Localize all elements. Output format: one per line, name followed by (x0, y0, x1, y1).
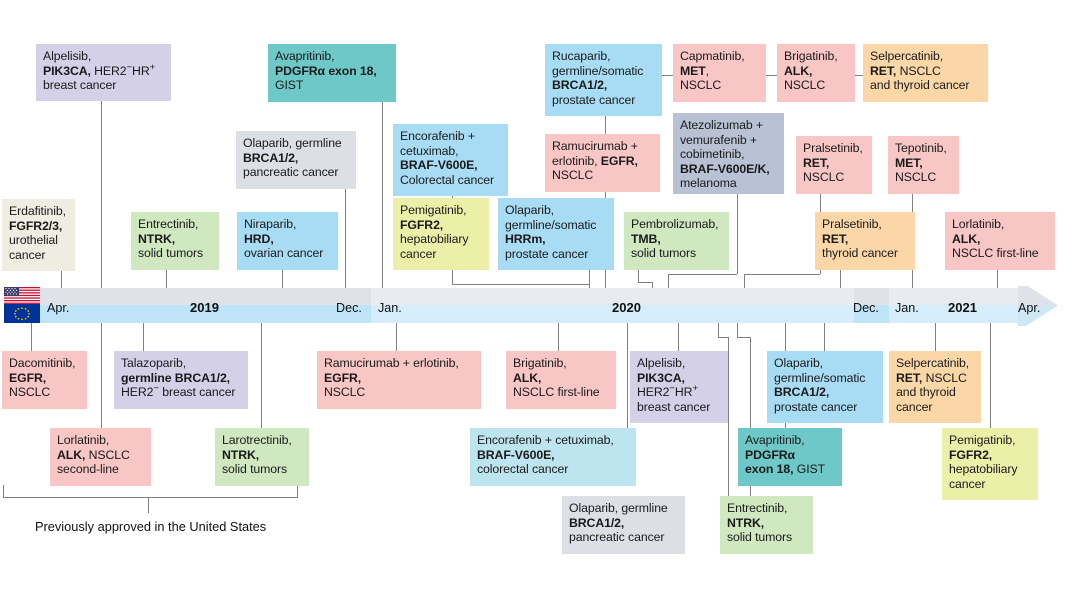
approval-box-line: Lorlatinib, (57, 433, 144, 448)
approval-box-line: HRRm, (505, 232, 607, 247)
approval-box-line: and thyroid cancer (870, 78, 981, 93)
legend-bracket-stem (148, 497, 149, 513)
approval-box-line: ovarian cancer (244, 246, 331, 261)
approval-box-line: MET, (680, 64, 759, 79)
approval-box-line: NSCLC first-line (952, 246, 1048, 261)
approval-box-line: germline BRCA1/2, (121, 371, 241, 386)
connector-encorafenib-bottom (627, 322, 628, 428)
connector-dacomitinib-bottom (31, 322, 32, 351)
approval-box-line: Pembrolizumab, (631, 217, 722, 232)
axis-tick-2019: 2019 (190, 302, 219, 315)
timeline-figure: Apr. 2019 Dec. Jan. 2020 Dec. Jan. 2021 … (0, 0, 1066, 600)
approval-box-line: hepatobiliary (400, 232, 482, 247)
approval-box-line: breast cancer (43, 78, 164, 93)
approval-box-line: pancreatic cancer (569, 530, 678, 545)
approval-box-larotrectinib-bottom: Larotrectinib,NTRK,solid tumors (215, 428, 309, 486)
connector-alpelisib-2019 (101, 101, 102, 288)
connector-pralsetinib-nsclc-elbow (744, 274, 820, 275)
approval-box-line: BRCA1/2, (774, 385, 876, 400)
approval-box-ramucirumab-bottom: Ramucirumab + erlotinib,EGFR,NSCLC (317, 351, 481, 409)
approval-box-line: PIK3CA, HER2−HR+ (43, 64, 164, 79)
approval-box-line: thyroid cancer (822, 246, 908, 261)
connector-pemigatinib-bottom (990, 322, 991, 428)
legend-label: Previously approved in the United States (35, 519, 266, 534)
connector-brigatinib-bottom (558, 322, 559, 351)
approval-box-lorlatinib-second-line-bottom: Lorlatinib,ALK, NSCLCsecond-line (50, 428, 151, 486)
approval-box-encorafenib-bottom: Encorafenib + cetuximab,BRAF-V600E,color… (470, 428, 636, 486)
legend-bracket-top (3, 497, 298, 498)
approval-box-line: Pemigatinib, (400, 203, 482, 218)
approval-box-line: Alpelisib, (637, 356, 721, 371)
approval-box-line: Avapritinib, (745, 433, 835, 448)
approval-box-brigatinib-bottom: Brigatinib,ALK,NSCLC first-line (506, 351, 616, 409)
approval-box-encorafenib-top: Encorafenib +cetuximab,BRAF-V600E,Colore… (393, 124, 508, 196)
approval-box-line: RET, NSCLC (870, 64, 981, 79)
approval-box-line: HER2− breast cancer (121, 385, 241, 400)
axis-tick-dec-2020: Dec. (853, 302, 879, 315)
approval-box-avapritinib-top: Avapritinib,PDGFRα exon 18,GIST (268, 44, 396, 102)
approval-box-line: Ramucirumab + erlotinib, (324, 356, 474, 371)
approval-box-line: NSCLC (803, 170, 865, 185)
approval-box-line: Pemigatinib, (949, 433, 1031, 448)
connector-capmatinib-brigatinib (766, 75, 777, 76)
approval-box-olaparib-prostate-bottom: Olaparib,germline/somaticBRCA1/2,prostat… (767, 351, 883, 423)
approval-box-line: Encorafenib + cetuximab, (477, 433, 629, 448)
connector-avapritinib-top (382, 102, 383, 288)
approval-box-line: exon 18, GIST (745, 462, 835, 477)
approval-box-line: Brigatinib, (513, 356, 609, 371)
approval-box-line: Olaparib, germline (243, 136, 349, 151)
connector-rucaparib-top (605, 116, 606, 134)
axis-tick-dec-2019: Dec. (336, 302, 362, 315)
approval-box-line: Talazoparib, (121, 356, 241, 371)
approval-box-line: RET, NSCLC (896, 371, 974, 386)
approval-box-line: and thyroid (896, 385, 974, 400)
approval-box-line: Olaparib, (505, 203, 607, 218)
approval-box-line: Erdafitinib, (9, 204, 68, 219)
connector-lorlatinib-second-line (101, 322, 102, 428)
approval-box-line: TMB, (631, 232, 722, 247)
approval-box-line: FGFR2, (400, 218, 482, 233)
approval-box-line: BRCA1/2, (569, 516, 678, 531)
approval-box-line: erlotinib, EGFR, (552, 154, 653, 169)
approval-box-line: Selpercatinib, (870, 49, 981, 64)
approval-box-line: NTRK, (727, 516, 806, 531)
axis-tick-2020: 2020 (612, 302, 641, 315)
connector-olaparib-pancreatic-bottom-drop (728, 337, 729, 496)
approval-box-line: NSCLC (680, 78, 759, 93)
approval-box-rucaparib-top: Rucaparib,germline/somaticBRCA1/2,prosta… (545, 44, 662, 116)
approval-box-line: ALK, (513, 371, 609, 386)
axis-tick-jan-2021: Jan. (895, 302, 919, 315)
approval-box-line: MET, (895, 156, 952, 171)
approval-box-line: cobimetinib, (680, 147, 777, 162)
approval-box-lorlatinib-first-line-top: Lorlatinib,ALK,NSCLC first-line (945, 212, 1055, 270)
approval-box-olaparib-pancreatic-top: Olaparib, germlineBRCA1/2,pancreatic can… (236, 131, 356, 189)
approval-box-line: NSCLC (895, 170, 952, 185)
approval-box-line: cancer (896, 400, 974, 415)
approval-box-line: NSCLC (784, 78, 848, 93)
approval-box-avapritinib-bottom: Avapritinib,PDGFRαexon 18, GIST (738, 428, 842, 486)
approval-box-line: Pralsetinib, (822, 217, 908, 232)
approval-box-line: cancer (9, 248, 68, 263)
approval-box-brigatinib-top: Brigatinib,ALK,NSCLC (777, 44, 855, 102)
approval-box-line: BRAF-V600E/K, (680, 162, 777, 177)
approval-box-line: Capmatinib, (680, 49, 759, 64)
approval-box-line: Ramucirumab + (552, 139, 653, 154)
approval-box-line: urothelial (9, 233, 68, 248)
approval-box-talazoparib-bottom: Talazoparib,germline BRCA1/2,HER2− breas… (114, 351, 248, 409)
approval-box-ramucirumab-top: Ramucirumab +erlotinib, EGFR,NSCLC (545, 134, 660, 192)
axis-tick-apr-2021: Apr. (1018, 302, 1040, 315)
eu-flag-icon (4, 304, 40, 323)
approval-box-line: vemurafenib + (680, 133, 777, 148)
approval-box-line: solid tumors (222, 462, 302, 477)
approval-box-line: melanoma (680, 176, 777, 191)
approval-box-line: BRAF-V600E, (400, 158, 501, 173)
approval-box-selpercatinib-bottom: Selpercatinib,RET, NSCLCand thyroidcance… (889, 351, 981, 423)
approval-box-niraparib: Niraparib,HRD,ovarian cancer (237, 212, 338, 270)
approval-box-tepotinib-top: Tepotinib,MET,NSCLC (888, 136, 959, 194)
approval-box-line: PDGFRα exon 18, (275, 64, 389, 79)
approval-box-line: colorectal cancer (477, 462, 629, 477)
approval-box-line: Selpercatinib, (896, 356, 974, 371)
connector-pemigatinib-top-elbow (452, 284, 589, 285)
legend-bracket-left (3, 485, 4, 498)
approval-box-line: NSCLC first-line (513, 385, 609, 400)
approval-box-line: pancreatic cancer (243, 165, 349, 180)
connector-pemigatinib-top-stem (452, 270, 453, 284)
approval-box-line: cancer (949, 477, 1031, 492)
approval-box-line: second-line (57, 462, 144, 477)
approval-box-line: solid tumors (138, 246, 212, 261)
approval-box-line: solid tumors (631, 246, 722, 261)
approval-box-olaparib-pancreatic-bottom: Olaparib, germlineBRCA1/2,pancreatic can… (562, 496, 685, 554)
approval-box-line: Entrectinib, (138, 217, 212, 232)
approval-box-line: prostate cancer (552, 93, 655, 108)
approval-box-line: germline/somatic (505, 218, 607, 233)
approval-box-pembrolizumab-top: Pembrolizumab,TMB,solid tumors (624, 212, 729, 270)
axis-tick-2021: 2021 (948, 302, 977, 315)
approval-box-line: cetuximab, (400, 144, 501, 159)
approval-box-line: Brigatinib, (784, 49, 848, 64)
approval-box-line: Olaparib, germline (569, 501, 678, 516)
connector-rucaparib-capmatinib (662, 75, 673, 76)
approval-box-line: solid tumors (727, 530, 806, 545)
approval-box-erdafitinib: Erdafitinib,FGFR2/3,urothelialcancer (2, 199, 75, 271)
connector-brigatinib-selpercatinib (855, 75, 863, 76)
approval-box-line: Tepotinib, (895, 141, 952, 156)
approval-box-line: RET, (822, 232, 908, 247)
approval-box-line: Olaparib, (774, 356, 876, 371)
us-flag-icon (4, 287, 40, 304)
approval-box-line: Niraparib, (244, 217, 331, 232)
approval-box-line: Larotrectinib, (222, 433, 302, 448)
approval-box-line: ALK, (784, 64, 848, 79)
approval-box-line: PIK3CA, (637, 371, 721, 386)
approval-box-line: NTRK, (222, 448, 302, 463)
connector-olaparib-pancreatic-top (345, 189, 346, 288)
connector-larotrectinib-bottom (261, 322, 262, 428)
approval-box-line: Colorectal cancer (400, 173, 501, 188)
approval-box-alpelisib-2019: Alpelisib,PIK3CA, HER2−HR+breast cancer (36, 44, 171, 101)
approval-box-line: germline/somatic (552, 64, 655, 79)
connector-selpercatinib-bottom (935, 322, 936, 351)
approval-box-line: EGFR, (9, 371, 80, 386)
connector-alpelisib-bottom (678, 322, 679, 351)
approval-box-line: prostate cancer (774, 400, 876, 415)
axis-tick-apr-2019: Apr. (47, 302, 69, 315)
connector-entrectinib-bottom-elbow (737, 337, 750, 338)
approval-box-line: Atezolizumab + (680, 118, 777, 133)
approval-box-line: prostate cancer (505, 247, 607, 262)
approval-box-entrectinib-bottom: Entrectinib,NTRK,solid tumors (720, 496, 813, 554)
connector-olaparib-prostate-bottom (824, 322, 825, 351)
axis-tick-jan-2020: Jan. (378, 302, 402, 315)
approval-box-line: Dacomitinib, (9, 356, 80, 371)
approval-box-line: hepatobiliary (949, 462, 1031, 477)
approval-box-pemigatinib-top: Pemigatinib,FGFR2,hepatobiliarycancer (393, 198, 489, 270)
approval-box-line: BRAF-V600E, (477, 448, 629, 463)
approval-box-line: NTRK, (138, 232, 212, 247)
approval-box-line: ALK, NSCLC (57, 448, 144, 463)
approval-box-line: BRCA1/2, (243, 151, 349, 166)
approval-box-line: EGFR, (324, 371, 474, 386)
approval-box-line: Alpelisib, (43, 49, 164, 64)
legend-bracket-right (297, 485, 298, 498)
approval-box-line: PDGFRα (745, 448, 835, 463)
approval-box-line: Encorafenib + (400, 129, 501, 144)
approval-box-line: NSCLC (324, 385, 474, 400)
approval-box-entrectinib-2019: Entrectinib,NTRK,solid tumors (131, 212, 219, 270)
approval-box-line: Pralsetinib, (803, 141, 865, 156)
approval-box-line: Lorlatinib, (952, 217, 1048, 232)
approval-box-line: FGFR2, (949, 448, 1031, 463)
approval-box-line: NSCLC (552, 168, 653, 183)
approval-box-line: ALK, (952, 232, 1048, 247)
approval-box-line: breast cancer (637, 400, 721, 415)
approval-box-line: RET, (803, 156, 865, 171)
approval-box-line: germline/somatic (774, 371, 876, 386)
approval-box-capmatinib-top: Capmatinib,MET,NSCLC (673, 44, 766, 102)
approval-box-atezolizumab-top: Atezolizumab +vemurafenib +cobimetinib,B… (673, 113, 784, 194)
approval-box-line: BRCA1/2, (552, 78, 655, 93)
approval-box-dacomitinib-bottom: Dacomitinib,EGFR,NSCLC (2, 351, 87, 409)
connector-pembrolizumab-stem (638, 270, 639, 282)
connector-olaparib-pancreatic-bottom-elbow (718, 337, 728, 338)
connector-atezolizumab-elbow (668, 274, 737, 275)
connector-talazoparib-bottom (143, 322, 144, 351)
approval-box-pemigatinib-bottom: Pemigatinib,FGFR2,hepatobiliarycancer (942, 428, 1038, 500)
approval-box-line: HER2−HR+ (637, 385, 721, 400)
approval-box-line: Rucaparib, (552, 49, 655, 64)
approval-box-line: Entrectinib, (727, 501, 806, 516)
approval-box-selpercatinib-top: Selpercatinib,RET, NSCLCand thyroid canc… (863, 44, 988, 102)
approval-box-line: cancer (400, 247, 482, 262)
approval-box-pralsetinib-nsclc-top: Pralsetinib,RET,NSCLC (796, 136, 872, 194)
approval-box-line: Avapritinib, (275, 49, 389, 64)
approval-box-olaparib-hrrm-top: Olaparib,germline/somaticHRRm,prostate c… (498, 198, 614, 270)
connector-pembrolizumab-elbow (638, 282, 652, 283)
approval-box-pralsetinib-thyroid-top: Pralsetinib,RET,thyroid cancer (815, 212, 915, 270)
connector-ramucirumab-bottom (396, 322, 397, 351)
connector-atezolizumab-stem (737, 194, 738, 274)
approval-box-alpelisib-bottom: Alpelisib,PIK3CA,HER2−HR+breast cancer (630, 351, 728, 423)
approval-box-line: HRD, (244, 232, 331, 247)
approval-box-line: GIST (275, 78, 389, 93)
approval-box-line: NSCLC (9, 385, 80, 400)
approval-box-line: FGFR2/3, (9, 219, 68, 234)
